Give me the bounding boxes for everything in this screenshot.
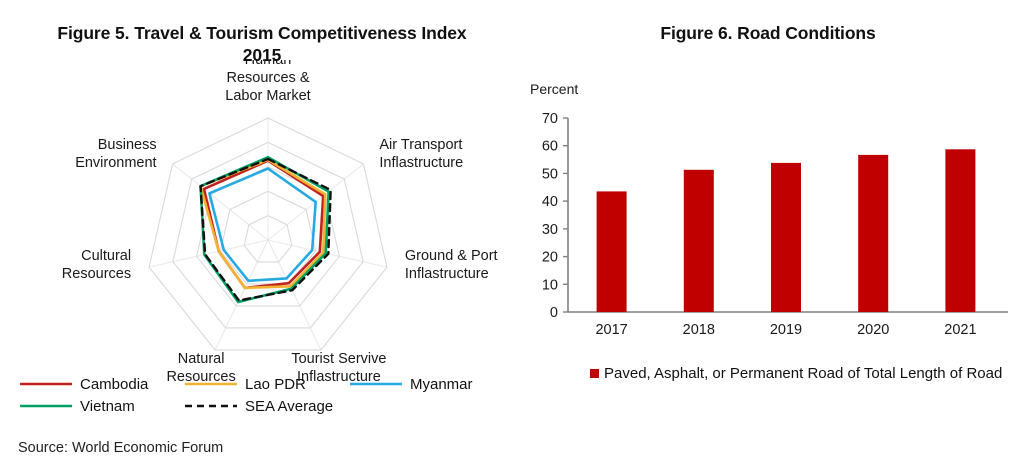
y-tick-label: 40 (542, 194, 558, 210)
y-tick-label: 20 (542, 250, 558, 266)
x-tick-label: 2018 (683, 322, 715, 338)
figure5-legend-wrap: CambodiaLao PDRMyanmarVietnamSEA Average (0, 370, 512, 426)
y-axis-unit-label: Percent (530, 81, 578, 97)
radar-axis-label: Air TransportInflastructure (379, 137, 463, 171)
radar-axis-label: HumanResources &Labor Market (225, 60, 310, 104)
y-tick-label: 30 (542, 222, 558, 238)
radar-gridlines (149, 118, 387, 350)
radar-chart: HumanResources &Labor MarketAir Transpor… (0, 60, 512, 420)
bar-2021 (945, 149, 975, 312)
figure5-panel: Figure 5. Travel & Tourism Competitivene… (0, 0, 512, 473)
figure5-title-line1: Figure 5. Travel & Tourism Competitivene… (12, 22, 512, 44)
y-tick-label: 60 (542, 139, 558, 155)
y-tick-label: 50 (542, 166, 558, 182)
x-tick-label: 2021 (944, 322, 976, 338)
figure6-panel: Figure 6. Road Conditions Percent0102030… (512, 0, 1024, 473)
legend-label: Lao PDR (245, 376, 306, 393)
radar-axis-label: CulturalResources (62, 248, 131, 282)
legend-label: SEA Average (245, 398, 333, 415)
x-tick-label: 2019 (770, 322, 802, 338)
bar-2020 (858, 155, 888, 312)
bar-chart: Percent010203040506070201720182019202020… (512, 60, 1024, 370)
figure-pair-page: Figure 5. Travel & Tourism Competitivene… (0, 0, 1024, 473)
radar-chart-wrap: HumanResources &Labor MarketAir Transpor… (0, 60, 512, 420)
legend-item-paved-road[interactable]: Paved, Asphalt, or Permanent Road of Tot… (590, 365, 1002, 382)
y-tick-label: 10 (542, 277, 558, 293)
radar-axis-label: Ground & PortInflastructure (405, 248, 498, 282)
legend-label: Myanmar (410, 376, 473, 393)
bar-2019 (771, 163, 801, 312)
legend-item-vietnam[interactable]: Vietnam (20, 398, 135, 415)
radar-series-myanmar (209, 169, 315, 281)
bar-2017 (597, 191, 627, 312)
figure6-legend: Paved, Asphalt, or Permanent Road of Tot… (512, 358, 1024, 394)
x-tick-label: 2020 (857, 322, 889, 338)
y-tick-label: 70 (542, 111, 558, 127)
legend-item-myanmar[interactable]: Myanmar (350, 376, 473, 393)
radar-axis-labels: HumanResources &Labor MarketAir Transpor… (62, 60, 498, 385)
figure6-title: Figure 6. Road Conditions (512, 22, 1024, 44)
figure5-legend: CambodiaLao PDRMyanmarVietnamSEA Average (0, 370, 512, 426)
radar-axis-spoke (268, 240, 321, 350)
y-tick-label: 0 (550, 305, 558, 321)
legend-item-sea-average[interactable]: SEA Average (185, 398, 333, 415)
legend-label: Vietnam (80, 398, 135, 415)
bar-chart-wrap: Percent010203040506070201720182019202020… (512, 60, 1024, 370)
legend-label: Cambodia (80, 376, 149, 393)
legend-item-cambodia[interactable]: Cambodia (20, 376, 149, 393)
legend-label: Paved, Asphalt, or Permanent Road of Tot… (604, 365, 1002, 382)
figure5-source: Source: World Economic Forum (18, 440, 223, 456)
x-tick-label: 2017 (595, 322, 627, 338)
legend-item-lao-pdr[interactable]: Lao PDR (185, 376, 306, 393)
bar-series-group (597, 149, 976, 312)
bar-2018 (684, 170, 714, 312)
radar-axis-label: BusinessEnvironment (75, 137, 156, 171)
legend-swatch-square (590, 369, 599, 378)
figure6-legend-wrap: Paved, Asphalt, or Permanent Road of Tot… (512, 358, 1024, 394)
